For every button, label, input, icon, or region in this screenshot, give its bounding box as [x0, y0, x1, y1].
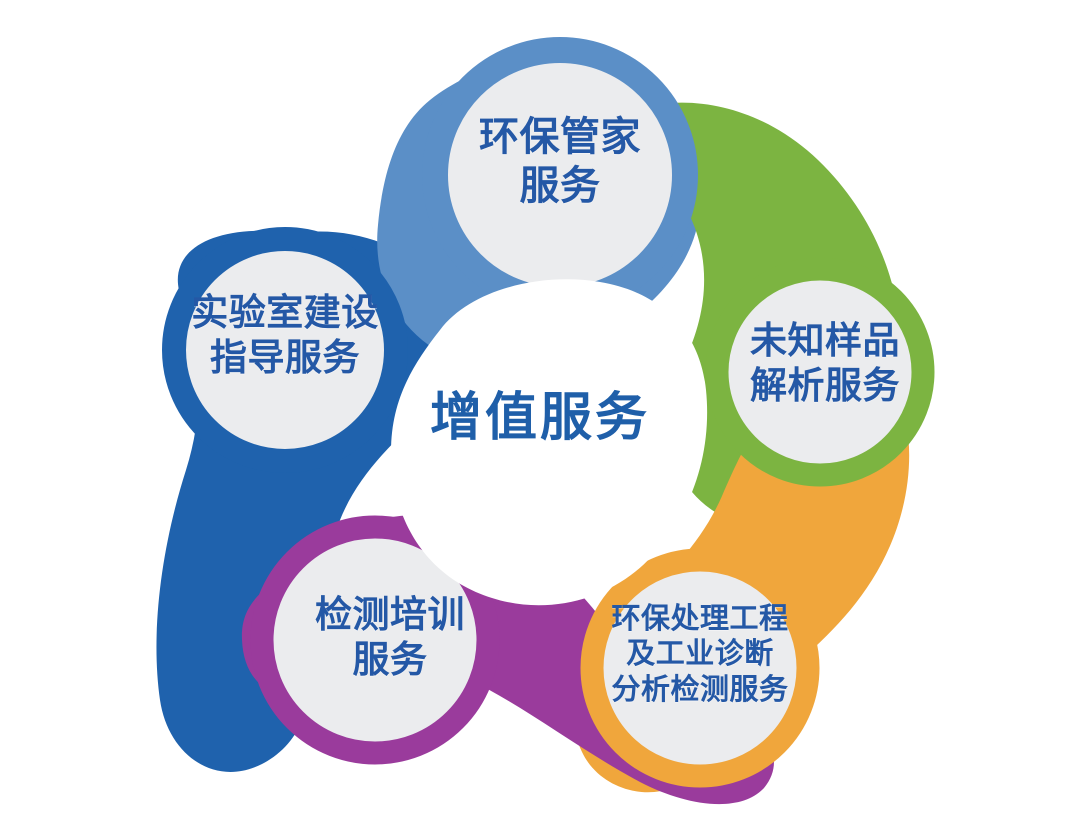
node-circle-right[interactable]: [717, 269, 923, 475]
petal-cluster-graphic: [0, 0, 1080, 817]
diagram-canvas: 环保管家 服务 实验室建设 指导服务 未知样品 解析服务 环保处理工程 及工业诊…: [0, 0, 1080, 817]
node-circle-left[interactable]: [174, 239, 396, 461]
node-circle-bottom-right[interactable]: [592, 560, 808, 776]
node-circle-top[interactable]: [435, 50, 685, 300]
